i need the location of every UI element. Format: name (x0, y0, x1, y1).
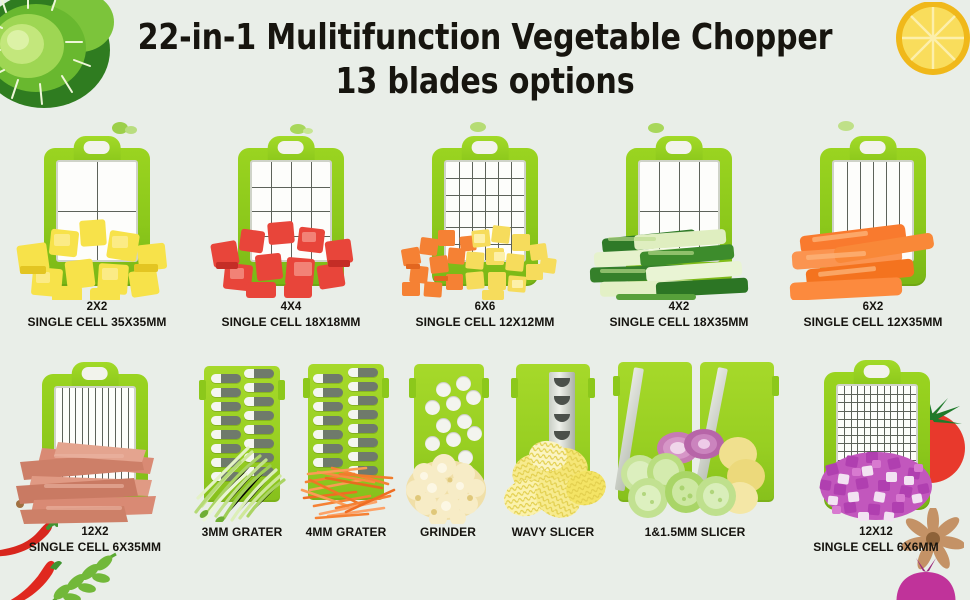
food-pile-purple-onion-dice (804, 434, 954, 524)
food-pile-green-julienne (190, 436, 294, 522)
blade-size-label: 4X2 (609, 300, 748, 315)
blade-handle-tab (854, 360, 901, 386)
food-pile-carrot-julienne (296, 438, 400, 522)
blade-labels: 6X2 SINGLE CELL 12X35MM (803, 300, 942, 330)
blade-labels: 1&1.5MM SLICER (645, 525, 746, 540)
blade-cell-label: 3MM GRATER (202, 525, 283, 540)
blade-cell-label: WAVY SLICER (512, 525, 595, 540)
blade-labels: 3MM GRATER (202, 525, 283, 540)
blade-cell-label: 1&1.5MM SLICER (645, 525, 746, 540)
product-infographic: 22-in-1 Mulitifunction Vegetable Chopper… (0, 0, 970, 600)
blade-cell-label: SINGLE CELL 6X35MM (29, 540, 161, 555)
blade-labels: 4X2 SINGLE CELL 18X35MM (609, 300, 748, 330)
blade-card-6x2[interactable]: 6X2 SINGLE CELL 12X35MM (776, 132, 970, 330)
blade-cell-label: SINGLE CELL 35X35MM (27, 315, 166, 330)
blade-card-6x6[interactable]: 6X6 SINGLE CELL 12X12MM (388, 132, 582, 330)
blade-size-label: 12X12 (813, 525, 939, 540)
food-pile-tomato-cubes (202, 212, 380, 300)
title-line-2: 13 blades options (34, 60, 936, 104)
blade-card-4x4[interactable]: 4X4 SINGLE CELL 18X18MM (194, 132, 388, 330)
blade-size-label: 2X2 (27, 300, 166, 315)
blade-card-12x12[interactable]: 12X12 SINGLE CELL 6X6MM (782, 360, 970, 555)
blade-size-label: 6X2 (803, 300, 942, 315)
blade-cell-label: SINGLE CELL 12X35MM (803, 315, 942, 330)
food-pile-cucumber-onion-potato-slices (612, 420, 782, 524)
blade-card-2x2[interactable]: 2X2 SINGLE CELL 35X35MM (0, 132, 194, 330)
food-pile-grated-pulp (398, 440, 498, 524)
blade-handle-tab (72, 362, 119, 388)
page-title: 22-in-1 Mulitifunction Vegetable Chopper… (0, 16, 970, 104)
food-pile-carrot-potato-cubes (394, 214, 576, 300)
blade-card-wavy-slicer[interactable]: WAVY SLICER (498, 360, 608, 555)
sprout-icon (838, 118, 860, 131)
blade-labels: 4X4 SINGLE CELL 18X18MM (221, 300, 360, 330)
blade-size-label: 6X6 (415, 300, 554, 315)
blade-cell-label: SINGLE CELL 6X6MM (813, 540, 939, 555)
blade-labels: 12X2 SINGLE CELL 6X35MM (29, 525, 161, 555)
chili-pepper-illustration (0, 558, 68, 600)
blade-card-3mm-grater[interactable]: 3MM GRATER (190, 360, 294, 555)
blade-card-grinder[interactable]: GRINDER (398, 360, 498, 555)
food-pile-wavy-potato-slices (500, 436, 610, 524)
sprout-icon (470, 118, 494, 132)
blade-card-4mm-grater[interactable]: 4MM GRATER (294, 360, 398, 555)
herb-sprig-illustration (46, 552, 124, 600)
blade-row-1: 2X2 SINGLE CELL 35X35MM (0, 132, 970, 330)
blade-size-label: 12X2 (29, 525, 161, 540)
blade-card-4x2[interactable]: 4X2 SINGLE CELL 18X35MM (582, 132, 776, 330)
blade-labels: WAVY SLICER (512, 525, 595, 540)
blade-labels: 6X6 SINGLE CELL 12X12MM (415, 300, 554, 330)
blade-cell-label: SINGLE CELL 18X35MM (609, 315, 748, 330)
blade-labels: 2X2 SINGLE CELL 35X35MM (27, 300, 166, 330)
title-line-1: 22-in-1 Mulitifunction Vegetable Chopper (34, 16, 936, 60)
food-pile-carrot-sticks (782, 210, 966, 300)
blade-handle-tab (268, 136, 315, 162)
blade-labels: GRINDER (420, 525, 476, 540)
onion-illustration (890, 558, 962, 600)
food-pile-cucumber-sticks (586, 210, 772, 300)
blade-cell-label: 4MM GRATER (306, 525, 387, 540)
blade-size-label: 4X4 (221, 300, 360, 315)
blade-labels: 12X12 SINGLE CELL 6X6MM (813, 525, 939, 555)
food-pile-ham-sticks (4, 428, 186, 525)
blade-row-2: 12X2 SINGLE CELL 6X35MM (0, 360, 970, 555)
blade-card-12x2[interactable]: 12X2 SINGLE CELL 6X35MM (0, 360, 190, 555)
blade-handle-tab (656, 136, 703, 162)
blade-handle-tab (850, 136, 897, 162)
blade-handle-tab (74, 136, 121, 162)
blade-cell-label: GRINDER (420, 525, 476, 540)
blade-cell-label: SINGLE CELL 12X12MM (415, 315, 554, 330)
blade-labels: 4MM GRATER (306, 525, 387, 540)
blade-card-1-1-5mm-slicer[interactable]: 1&1.5MM SLICER (608, 360, 782, 555)
food-pile-potato-cubes (6, 208, 188, 300)
blade-handle-tab (462, 136, 509, 162)
blade-cell-label: SINGLE CELL 18X18MM (221, 315, 360, 330)
